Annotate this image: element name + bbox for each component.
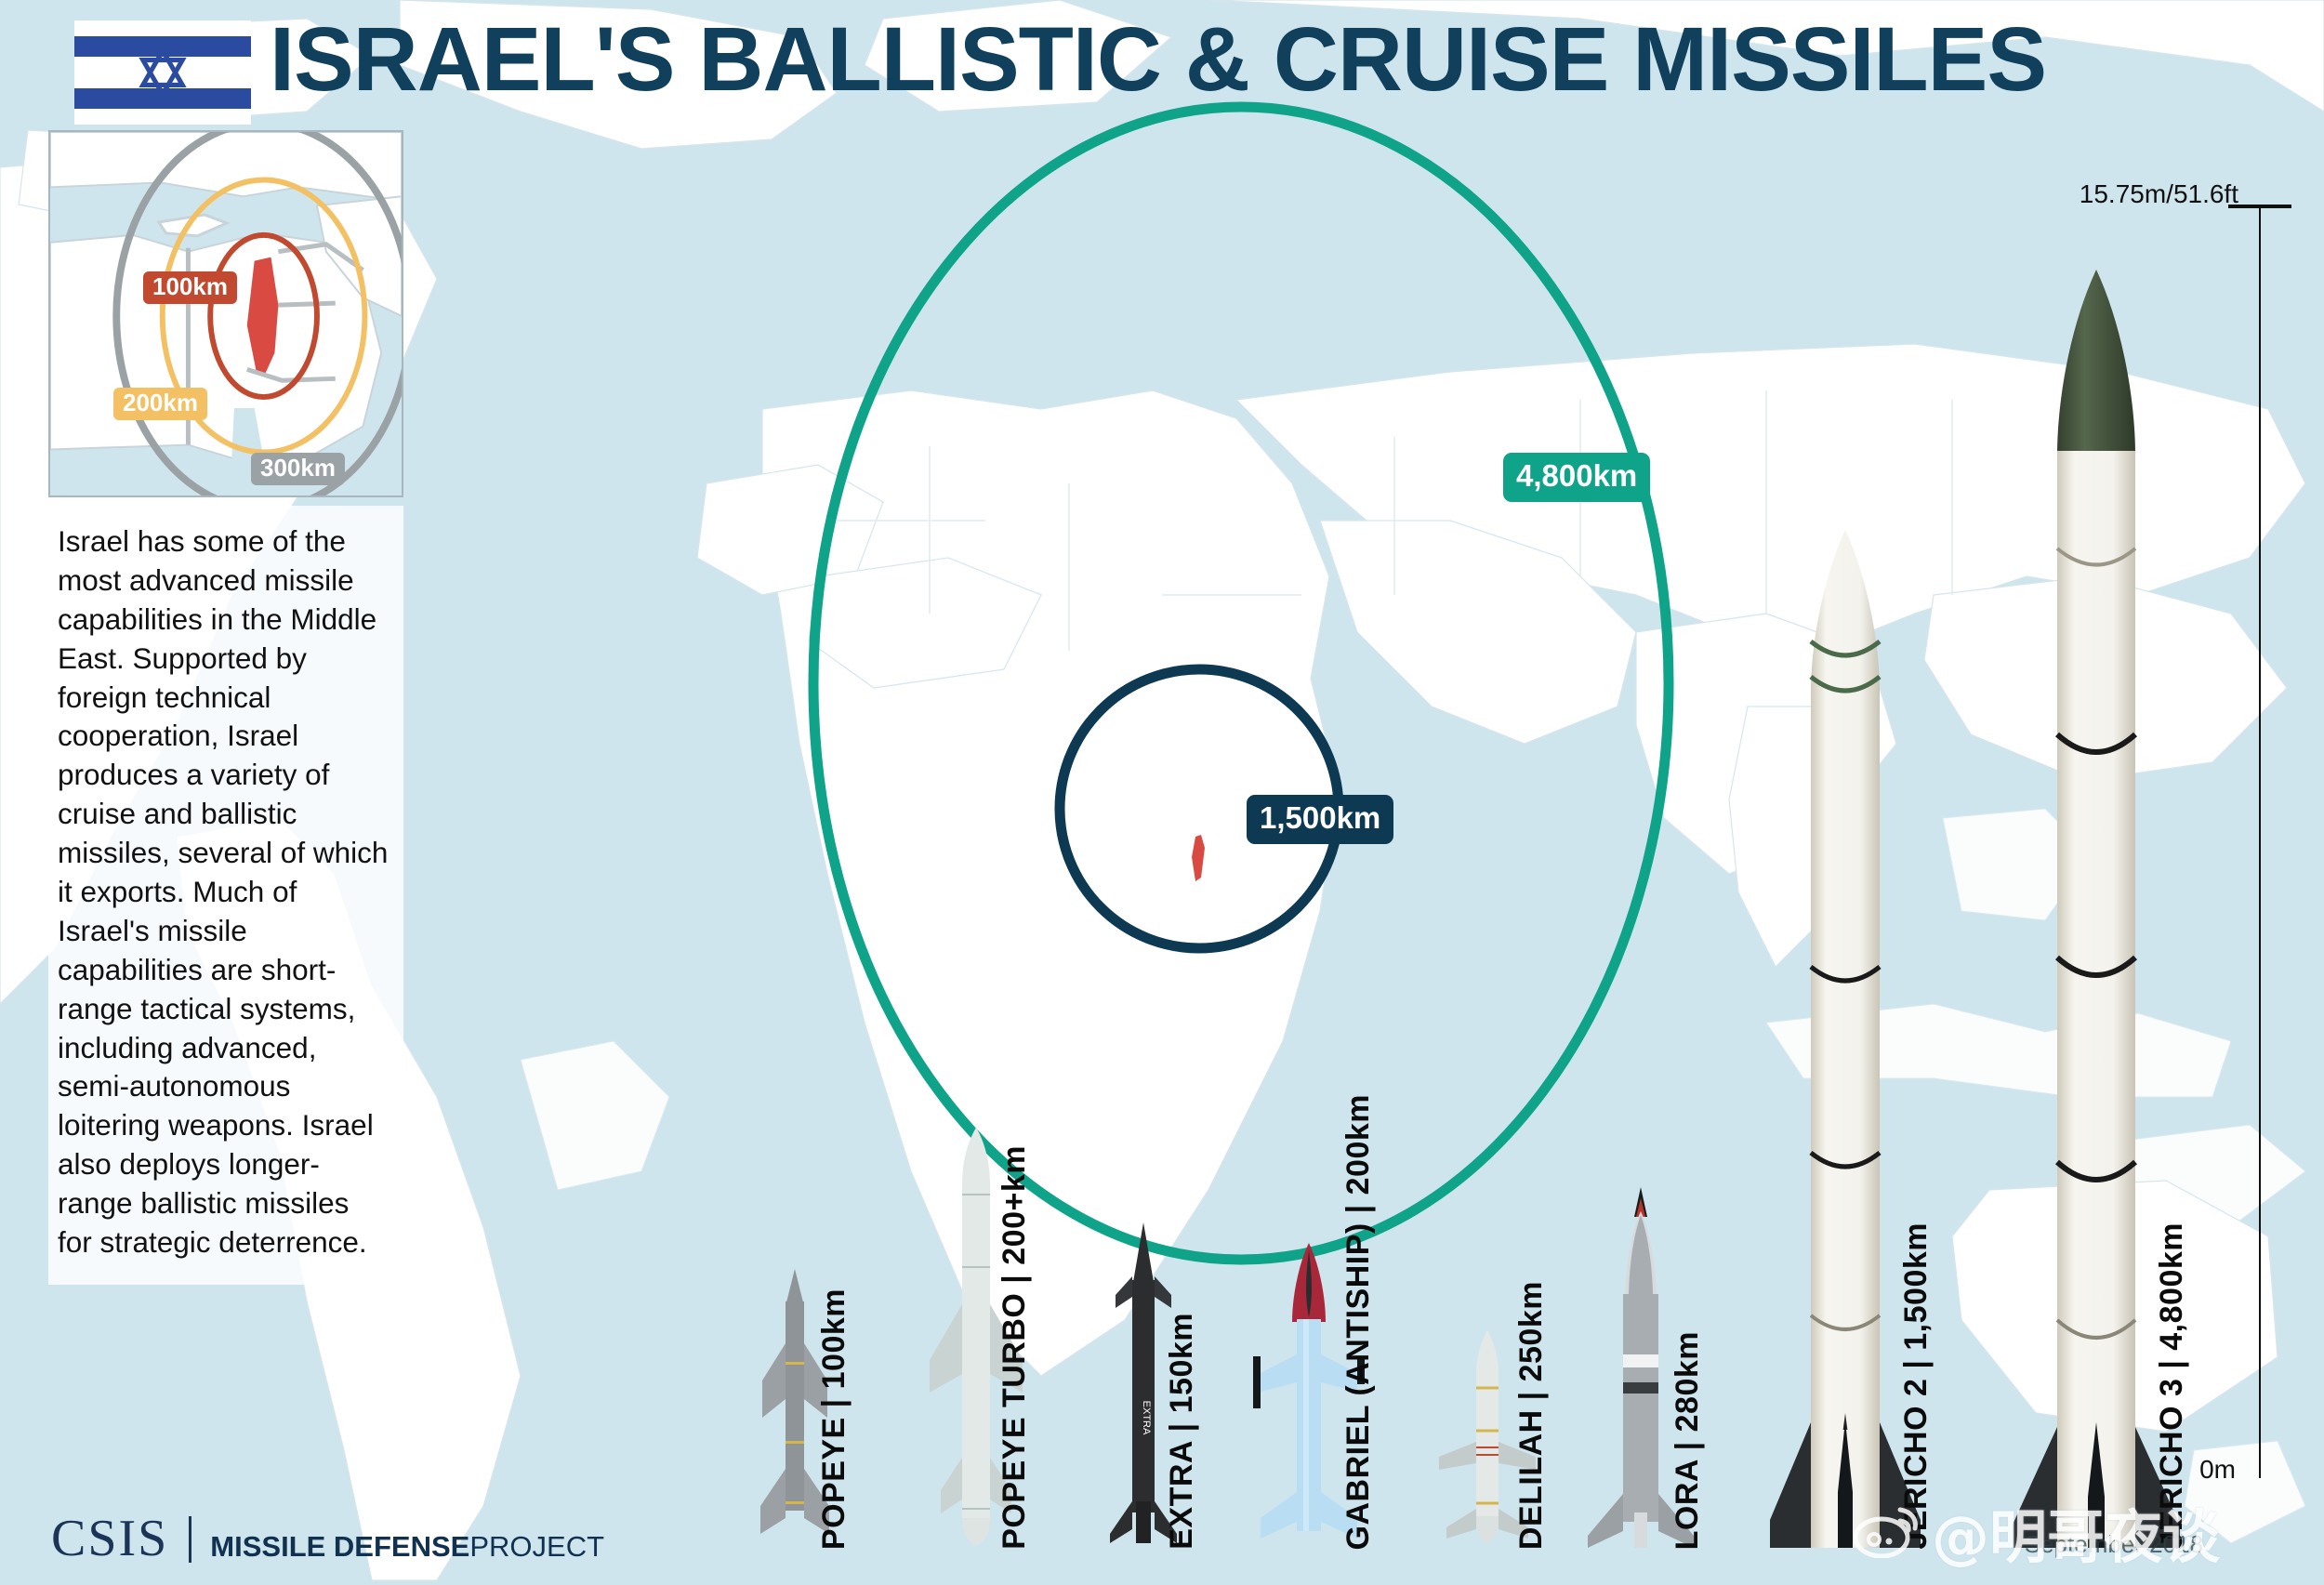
csis-logo: CSIS MISSILE DEFENSEPROJECT xyxy=(51,1512,604,1565)
missile-label-delilah: DELILAH | 250km xyxy=(1513,1281,1550,1550)
missile-jericho-3: JERICHO 3 | 4,800km xyxy=(2003,293,2189,1585)
inset-map-svg xyxy=(50,132,402,495)
inset-ring-label-100km: 100km xyxy=(143,271,237,304)
header: ISRAEL'S BALLISTIC & CRUISE MISSILES xyxy=(0,0,2324,139)
inset-range-map: 100km 200km 300km xyxy=(48,130,403,497)
missile-delilah: DELILAH | 250km xyxy=(1432,1357,1543,1585)
missile-label-popeye-turbo: POPEYE TURBO | 200+km xyxy=(997,1145,1033,1550)
description-panel: Israel has some of the most advanced mis… xyxy=(48,506,403,1285)
missile-gabriel: GABRIEL (ANTISHIP) | 200km xyxy=(1244,1274,1374,1585)
mdp-light-text: PROJECT xyxy=(469,1530,604,1563)
extra-body-text: EXTRA xyxy=(1141,1401,1152,1435)
weibo-watermark: @明哥夜谈 xyxy=(1854,1490,2220,1574)
missile-lora: LORA | 280km xyxy=(1580,1213,1701,1585)
israel-flag-icon xyxy=(74,20,251,125)
csis-wordmark: CSIS xyxy=(51,1512,168,1565)
missile-label-gabriel: GABRIEL (ANTISHIP) | 200km xyxy=(1340,1094,1377,1550)
missile-label-lora: LORA | 280km xyxy=(1670,1331,1706,1550)
logo-divider xyxy=(189,1516,191,1563)
missile-label-popeye: POPEYE | 100km xyxy=(816,1288,852,1550)
missile-defense-project-wordmark: MISSILE DEFENSEPROJECT xyxy=(210,1532,604,1565)
missile-popeye: POPEYE | 100km xyxy=(744,1288,846,1585)
page-title: ISRAEL'S BALLISTIC & CRUISE MISSILES xyxy=(270,7,2046,112)
mdp-bold-text: MISSILE DEFENSE xyxy=(210,1530,469,1563)
star-of-david-icon xyxy=(137,46,189,99)
infographic-root: ISRAEL'S BALLISTIC & CRUISE MISSILES xyxy=(0,0,2324,1585)
inset-ring-label-200km: 200km xyxy=(113,388,207,420)
weibo-icon xyxy=(1854,1506,1919,1558)
missile-jericho-2: JERICHO 2 | 1,500km xyxy=(1757,553,1934,1585)
inset-ring-label-300km: 300km xyxy=(251,453,345,485)
height-scale-bar xyxy=(2259,205,2261,1478)
scale-top-label: 15.75m/51.6ft xyxy=(2080,179,2238,209)
watermark-text: @明哥夜谈 xyxy=(1932,1490,2220,1574)
description-text: Israel has some of the most advanced mis… xyxy=(58,522,390,1262)
missile-extra: EXTRA EXTRA | 150km xyxy=(1097,1250,1190,1585)
missile-label-extra: EXTRA | 150km xyxy=(1164,1313,1200,1550)
scale-bottom-label: 0m xyxy=(2199,1455,2236,1485)
missile-popeye-turbo: POPEYE TURBO | 200+km xyxy=(920,1148,1032,1585)
